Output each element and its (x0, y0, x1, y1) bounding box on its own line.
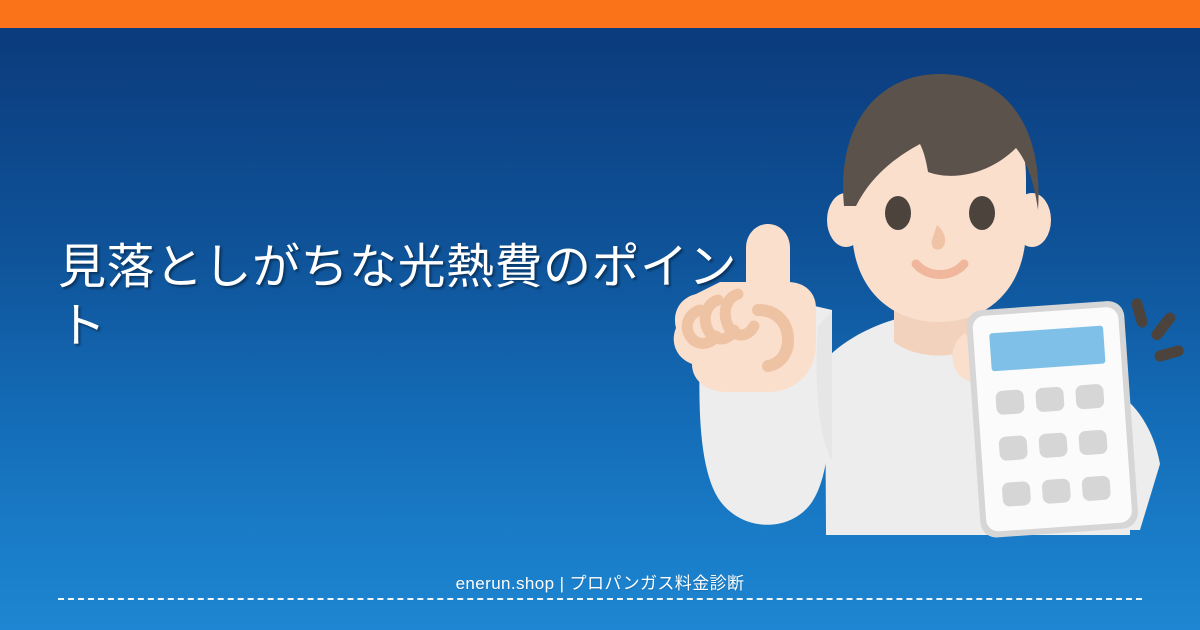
footer-divider (58, 598, 1142, 600)
sparkle-2 (1149, 310, 1177, 342)
calculator-button (1042, 478, 1072, 504)
calculator-button (995, 389, 1025, 415)
pointing-hand (674, 224, 816, 392)
sparkle-3 (1153, 344, 1185, 363)
slide-canvas: 見落としがちな光熱費のポイント (0, 0, 1200, 630)
top-accent-bar (0, 0, 1200, 28)
calculator-button (1081, 475, 1111, 501)
left-eye (885, 196, 911, 230)
calculator-button (1035, 386, 1065, 412)
calculator-button (1075, 384, 1105, 410)
illustration-man-pointing-with-calculator (640, 60, 1200, 570)
footer-caption: enerun.shop | プロパンガス料金診断 (0, 572, 1200, 596)
sparkle-1 (1130, 297, 1149, 329)
calculator-screen (989, 326, 1105, 372)
right-eye (969, 196, 995, 230)
sparkles-icon (1130, 297, 1185, 363)
calculator-button (998, 435, 1028, 461)
calculator-button (1038, 432, 1068, 458)
calculator-button (1078, 430, 1108, 456)
calculator-button (1002, 481, 1032, 507)
